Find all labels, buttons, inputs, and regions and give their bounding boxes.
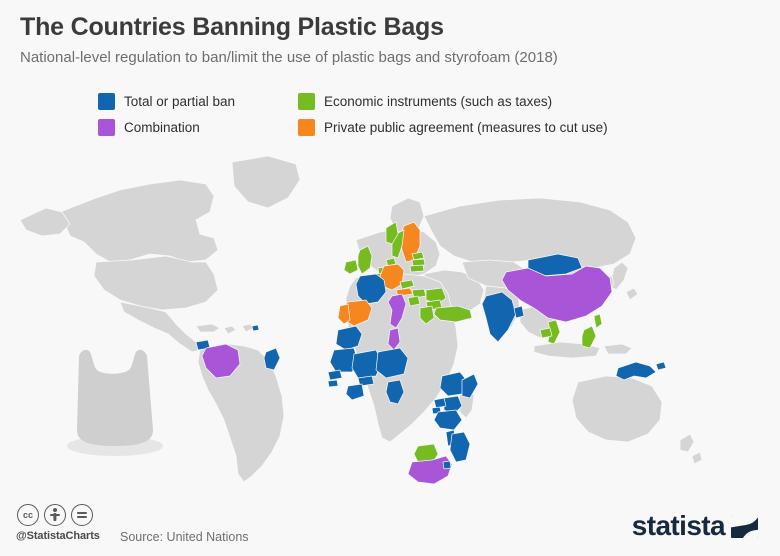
statista-logo-mark	[731, 515, 758, 538]
region-png-islands[interactable]	[656, 362, 666, 370]
legend-label-economic-instruments: Economic instruments (such as taxes)	[324, 94, 552, 109]
cc-icon: cc	[17, 504, 39, 526]
header: The Countries Banning Plastic Bags Natio…	[20, 14, 760, 67]
person-glyph	[45, 504, 65, 526]
region-bangladesh[interactable]	[514, 306, 524, 318]
statista-logo[interactable]: statista	[632, 512, 758, 540]
region-portugal[interactable]	[338, 304, 350, 324]
region-india[interactable]	[482, 292, 516, 342]
attribution-icon	[44, 504, 66, 526]
plastic-bag-illustration	[45, 330, 185, 460]
equals-glyph	[77, 512, 87, 519]
legend-item-total-or-partial-ban[interactable]: Total or partial ban	[98, 93, 298, 110]
legend-swatch-blue	[98, 93, 115, 110]
region-croatia[interactable]	[408, 296, 420, 306]
region-uganda[interactable]	[434, 398, 446, 408]
region-south-africa[interactable]	[408, 456, 452, 484]
region-lithuania[interactable]	[410, 265, 424, 272]
region-taiwan[interactable]	[594, 314, 602, 328]
region-guyana[interactable]	[264, 348, 280, 370]
region-tanzania[interactable]	[434, 410, 462, 430]
no-derivatives-icon	[71, 504, 93, 526]
legend-label-combination: Combination	[124, 120, 200, 135]
legend-swatch-purple	[98, 119, 115, 136]
region-guinea-bissau[interactable]	[328, 380, 338, 387]
legend-swatch-green	[298, 93, 315, 110]
bag-body	[77, 350, 153, 446]
region-united-kingdom[interactable]	[358, 246, 372, 274]
region-philippines[interactable]	[582, 326, 596, 348]
legend-item-combination[interactable]: Combination	[98, 119, 298, 136]
infographic-canvas: The Countries Banning Plastic Bags Natio…	[0, 0, 780, 556]
region-niger[interactable]	[376, 348, 408, 378]
region-eswatini[interactable]	[443, 461, 451, 469]
source-label: Source: United Nations	[120, 530, 249, 544]
region-cambodia[interactable]	[540, 328, 552, 338]
page-subtitle: National-level regulation to ban/limit t…	[20, 49, 760, 67]
region-senegal[interactable]	[328, 370, 342, 380]
statista-handle: @StatistaCharts	[16, 530, 100, 542]
region-papua-new-guinea[interactable]	[616, 362, 656, 380]
region-ivory-coast[interactable]	[346, 384, 364, 400]
statista-wordmark: statista	[632, 512, 725, 540]
legend-item-economic-instruments[interactable]: Economic instruments (such as taxes)	[298, 93, 698, 110]
region-ireland[interactable]	[344, 260, 358, 274]
region-turkey[interactable]	[434, 306, 472, 322]
legend-label-total-or-partial-ban: Total or partial ban	[124, 94, 235, 109]
region-antigua-and-barbuda[interactable]	[252, 325, 259, 331]
page-title: The Countries Banning Plastic Bags	[20, 14, 760, 42]
legend-swatch-orange	[298, 119, 315, 136]
legend: Total or partial ban Economic instrument…	[98, 88, 718, 140]
legend-label-private-public-agreement: Private public agreement (measures to cu…	[324, 120, 608, 135]
region-mozambique[interactable]	[450, 432, 470, 462]
license-icons: cc	[17, 504, 93, 526]
legend-item-private-public-agreement[interactable]: Private public agreement (measures to cu…	[298, 119, 698, 136]
